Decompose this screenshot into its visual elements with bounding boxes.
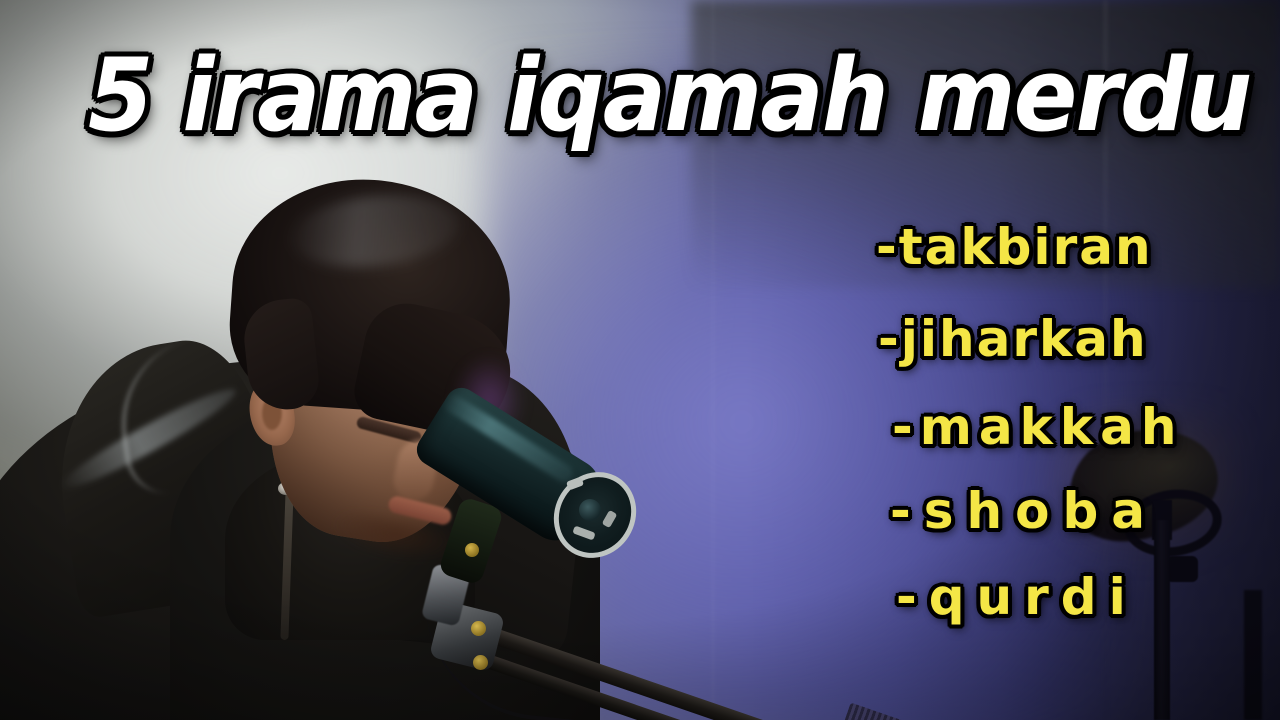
thumbnail-title: 5 irama iqamah merdu (88, 36, 1250, 154)
list-item-jiharkah: -jiharkah (878, 314, 1148, 364)
youtube-thumbnail: 5 irama iqamah merdu -takbiran -jiharkah… (0, 0, 1280, 720)
irama-list: -takbiran -jiharkah -makkah -shoba -qurd… (870, 206, 1270, 636)
list-item-takbiran: -takbiran (876, 222, 1153, 272)
list-item-makkah: -makkah (892, 402, 1183, 452)
list-item-qurdi: -qurdi (896, 572, 1138, 622)
list-item-shoba: -shoba (890, 486, 1158, 536)
